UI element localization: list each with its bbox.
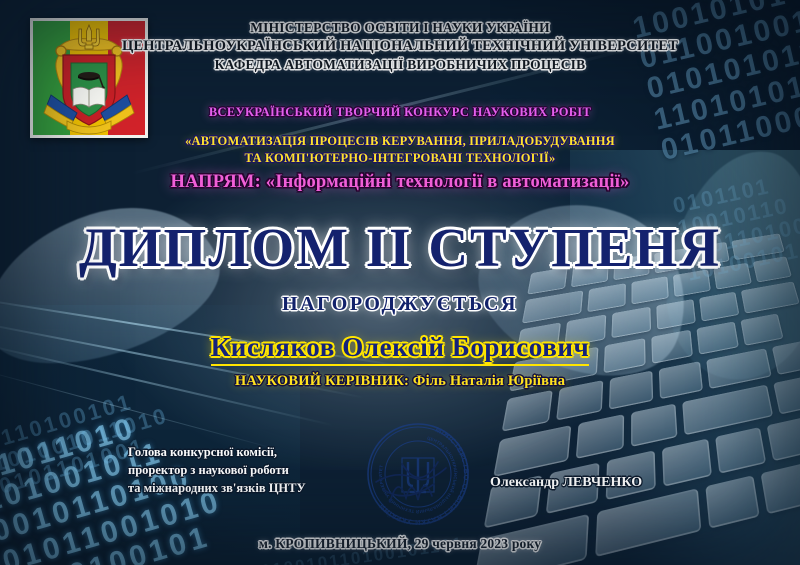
recipient-name: Кисляков Олексій Борисович	[211, 332, 590, 366]
advisor-line: НАУКОВИЙ КЕРІВНИК: Філь Наталія Юріївна	[0, 373, 800, 390]
signatory-role-line2: проректор з наукової роботи	[128, 462, 343, 480]
university-line: ЦЕНТРАЛЬНОУКРАЇНСЬКИЙ НАЦІОНАЛЬНИЙ ТЕХНІ…	[0, 38, 800, 55]
certificate-canvas: 10010101 011001001 0101010110 110101010 …	[0, 0, 800, 565]
department-line: КАФЕДРА АВТОМАТИЗАЦІЇ ВИРОБНИЧИХ ПРОЦЕСІ…	[0, 57, 800, 73]
signatory-role-block: Голова конкурсної комісії, проректор з н…	[128, 444, 343, 497]
contest-theme-line2: ТА КОМП'ЮТЕРНО-ІНТЕГРОВАНІ ТЕХНОЛОГІЇ»	[0, 151, 800, 166]
official-seal: МІНІСТЕРСТВО ОСВІТИ І НАУКИ УКРАЇНИ ЦЕНТ…	[362, 418, 474, 530]
signatory-role-line1: Голова конкурсної комісії,	[128, 444, 343, 462]
contest-theme-line1: «АВТОМАТИЗАЦІЯ ПРОЦЕСІВ КЕРУВАННЯ, ПРИЛА…	[0, 134, 800, 149]
contest-title: ВСЕУКРАЇНСЬКИЙ ТВОРЧИЙ КОНКУРС НАУКОВИХ …	[0, 105, 800, 120]
university-emblem	[30, 18, 148, 138]
ministry-line: МІНІСТЕРСТВО ОСВІТИ І НАУКИ УКРАЇНИ	[0, 20, 800, 36]
contest-direction: НАПРЯМ: «Інформаційні технології в автом…	[0, 172, 800, 193]
place-and-date: м. КРОПИВНИЦЬКИЙ, 29 червня 2023 року	[0, 536, 800, 552]
diploma-title: ДИПЛОМ II СТУПЕНЯ	[0, 216, 800, 279]
signatory-name: Олександр ЛЕВЧЕНКО	[490, 475, 642, 491]
recipient-row: Кисляков Олексій Борисович	[0, 332, 800, 366]
signatory-role-line3: та міжнародних зв'язків ЦНТУ	[128, 480, 343, 498]
awarded-label: НАГОРОДЖУЄТЬСЯ	[0, 293, 800, 316]
